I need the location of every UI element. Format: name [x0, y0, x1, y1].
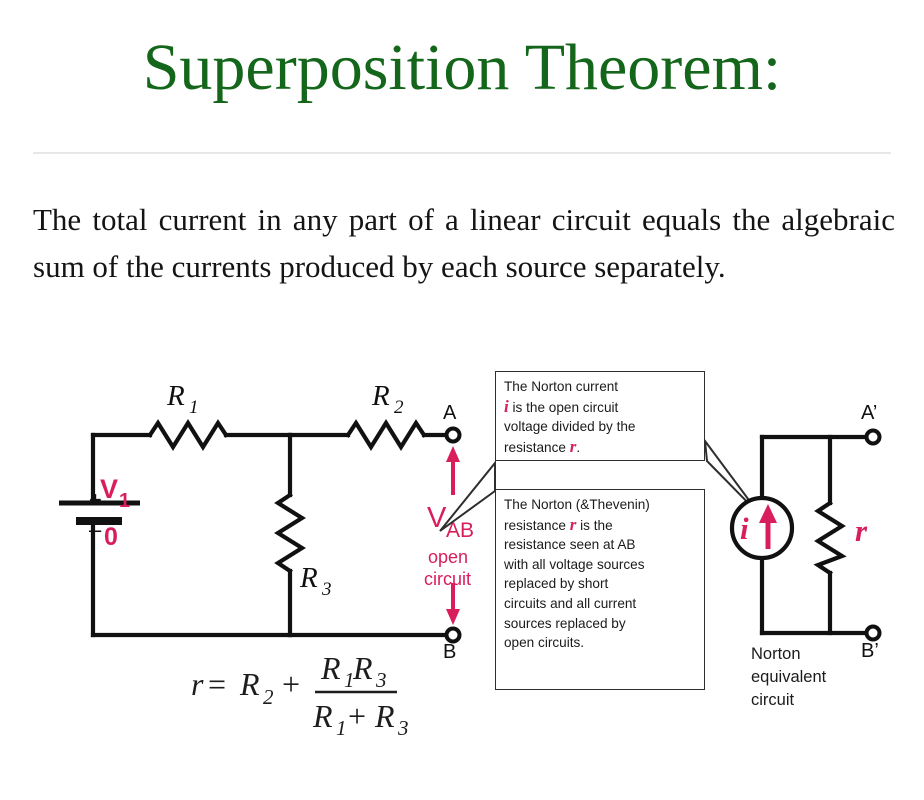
formula-den-b: R: [374, 698, 395, 734]
label-r2: R: [371, 380, 390, 412]
callout-2-line7: circuits and all current: [504, 596, 636, 611]
formula-den-a-sub: 1: [336, 716, 347, 740]
resistor-r3-zigzag: [278, 495, 302, 571]
formula-num-b: R: [352, 650, 373, 686]
callout-2-line6: replaced by short: [504, 576, 608, 591]
vab-arrow-down-head: [446, 609, 460, 625]
callout-2-line1: The Norton (&Thevenin): [504, 497, 650, 512]
label-open: open: [428, 547, 468, 567]
norton-caption-line1: Norton: [751, 643, 891, 666]
formula-num-a: R: [320, 650, 341, 686]
label-terminal-a-prime: A’: [861, 402, 877, 424]
label-battery-minus: –: [89, 517, 102, 542]
formula-r-expression: r = R 2 + R 1 R 3 R 1 + R 3: [191, 650, 409, 740]
callout-2-line5: with all voltage sources: [504, 557, 645, 572]
formula-plus: +: [282, 666, 300, 702]
norton-equivalent-caption: Norton equivalent circuit: [751, 643, 891, 712]
resistor-r2-zigzag: [348, 423, 424, 447]
terminal-b-node: [447, 629, 460, 642]
original-circuit-group: [93, 423, 446, 635]
callout-1-line4: resistance: [504, 440, 566, 455]
label-r2-sub: 2: [394, 397, 404, 418]
label-terminal-b: B: [443, 641, 456, 663]
label-r3: R: [299, 562, 318, 594]
callout-1-line1: The Norton current: [504, 379, 618, 394]
label-source-v: V: [100, 474, 118, 504]
callout-1-line5: .: [576, 440, 580, 455]
formula-lhs: r: [191, 666, 204, 702]
formula-den-a: R: [312, 698, 333, 734]
figure-container: R 1 R 2 R 3 A B + – V 1 0 V AB open circ…: [0, 355, 924, 755]
label-source-value: 0: [104, 523, 118, 551]
callout-1-line3: voltage divided by the: [504, 419, 636, 434]
label-r1-sub: 1: [189, 397, 199, 418]
callout-2-line9: open circuits.: [504, 635, 584, 650]
terminal-b-prime-node: [867, 627, 880, 640]
callout-1-var-i: i: [504, 397, 509, 416]
formula-den-plus: +: [348, 698, 366, 734]
label-norton-resistor: r: [855, 513, 868, 548]
label-r3-sub: 3: [321, 579, 332, 600]
callout-2-line4: resistance seen at AB: [504, 537, 635, 552]
terminal-a-prime-node: [867, 431, 880, 444]
formula-term1: R: [239, 666, 260, 702]
resistor-r1-zigzag: [150, 423, 226, 447]
label-current-source: i: [740, 511, 749, 546]
callout-norton-resistance: The Norton (&Thevenin) resistance r is t…: [495, 489, 705, 690]
formula-equals: =: [208, 666, 226, 702]
body-paragraph: The total current in any part of a linea…: [33, 196, 895, 290]
norton-caption-line3: circuit: [751, 689, 891, 712]
norton-caption-line2: equivalent: [751, 666, 891, 689]
formula-term1-sub: 2: [263, 685, 274, 709]
callout-2-line3: is the: [580, 518, 613, 533]
label-terminal-a: A: [443, 402, 457, 424]
label-r1: R: [166, 380, 185, 412]
page-title: Superposition Theorem:: [0, 30, 924, 106]
callout-1-line2: is the open circuit: [513, 400, 619, 415]
norton-resistor-r-zigzag: [818, 503, 842, 573]
label-circuit: circuit: [424, 569, 471, 589]
terminal-a-node: [447, 429, 460, 442]
title-divider: [33, 152, 891, 154]
callout-2-line2: resistance: [504, 518, 566, 533]
formula-den-b-sub: 3: [397, 716, 409, 740]
formula-num-b-sub: 3: [375, 668, 387, 692]
callout-2-var-r: r: [570, 515, 577, 534]
callout-norton-current: The Norton current i is the open circuit…: [495, 371, 705, 461]
vab-arrow-up-head: [446, 446, 460, 462]
callout-2-line8: sources replaced by: [504, 616, 626, 631]
label-source-v-sub: 1: [119, 490, 130, 512]
